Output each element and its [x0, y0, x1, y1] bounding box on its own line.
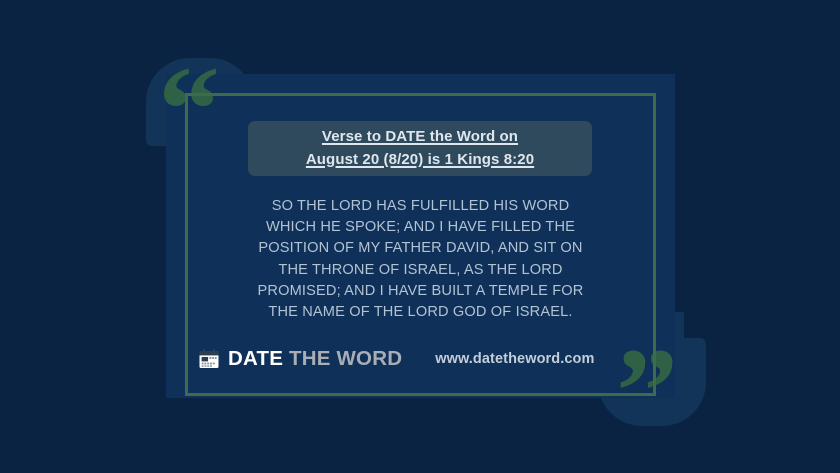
brand-wordmark: DATE THE WORD: [228, 347, 402, 371]
verse-line: POSITION OF MY FATHER DAVID, AND SIT ON: [199, 238, 642, 259]
verse-line: WHICH HE SPOKE; AND I HAVE FILLED THE: [199, 217, 642, 238]
verse-line: SO THE LORD HAS FULFILLED HIS WORD: [199, 196, 642, 217]
brand-date-text: DATE: [228, 347, 283, 370]
calendar-icon: [197, 347, 221, 371]
verse-line: THE NAME OF THE LORD GOD OF ISRAEL.: [199, 302, 642, 323]
verse-line: PROMISED; AND I HAVE BUILT A TEMPLE FOR: [199, 281, 642, 302]
card-content: Verse to DATE the Word on August 20 (8/2…: [185, 93, 656, 396]
verse-line: THE THRONE OF ISRAEL, AS THE LORD: [199, 260, 642, 281]
verse-title-line-1: Verse to DATE the Word on: [322, 126, 518, 149]
footer-branding: DATE THE WORD www.datetheword.com: [197, 342, 647, 376]
quote-card-canvas: “ ” Verse to DATE the Word on August 20 …: [0, 0, 840, 473]
verse-title-line-2: August 20 (8/20) is 1 Kings 8:20: [306, 149, 534, 172]
brand-the-word-text: THE WORD: [289, 347, 402, 370]
verse-title-box: Verse to DATE the Word on August 20 (8/2…: [248, 121, 592, 176]
website-url: www.datetheword.com: [435, 351, 594, 367]
verse-body: SO THE LORD HAS FULFILLED HIS WORD WHICH…: [199, 196, 642, 323]
